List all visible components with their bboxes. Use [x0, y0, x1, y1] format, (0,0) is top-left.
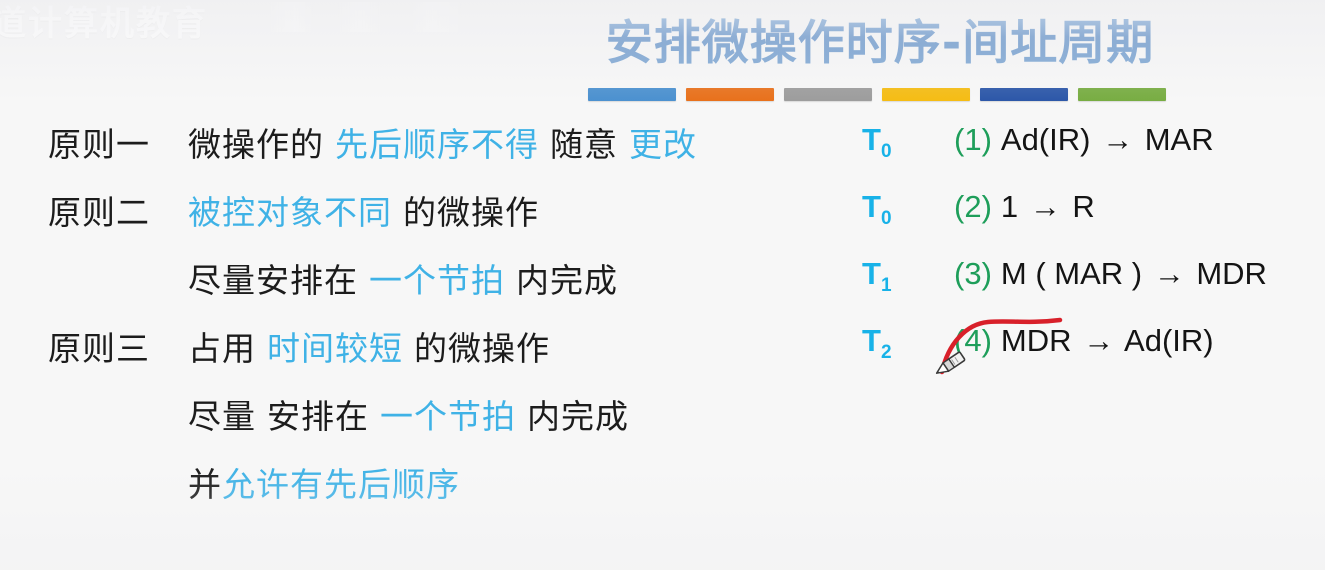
- principle-text: 被控对象不同的微操作: [188, 186, 539, 234]
- bar-yellow: [882, 88, 970, 101]
- micro-operation-row: T2(4)MDR → Ad(IR): [862, 323, 1267, 390]
- expression-destination: R: [1072, 189, 1094, 224]
- plain-phrase: 并: [188, 465, 222, 504]
- right-arrow-icon: →: [1099, 122, 1136, 157]
- plain-phrase: 随意: [550, 125, 618, 164]
- highlighted-phrase: 先后顺序不得: [335, 125, 539, 164]
- principle-label: 原则三: [48, 322, 188, 370]
- expression-destination: Ad(IR): [1124, 323, 1214, 358]
- bar-gray: [784, 88, 872, 101]
- highlighted-phrase: 更改: [629, 125, 697, 164]
- plain-phrase: 尽量安排在: [188, 261, 358, 300]
- plain-phrase: 内完成: [527, 397, 629, 436]
- timing-signal-subscript: 1: [881, 275, 892, 296]
- bar-blue: [588, 88, 676, 101]
- plain-phrase: 的微操作: [414, 329, 550, 368]
- principle-row: 原则三占用时间较短的微操作: [48, 322, 818, 390]
- timing-signal-label: T2: [862, 323, 954, 364]
- highlighted-phrase: 一个节拍: [380, 397, 516, 436]
- principle-text: 并允许有先后顺序: [188, 458, 460, 506]
- principle-row: 原则二被控对象不同的微操作: [48, 186, 818, 254]
- operation-number: (4): [954, 323, 992, 359]
- right-arrow-icon: →: [1080, 323, 1117, 358]
- principle-row: 并允许有先后顺序: [48, 458, 818, 526]
- slide-canvas: 道计算机教育 安排微操作时序-间址周期 原则一微操作的先后顺序不得随意更改原则二…: [0, 0, 1325, 570]
- bar-green: [1078, 88, 1166, 101]
- operation-expression: Ad(IR) → MAR: [1001, 122, 1214, 158]
- right-arrow-icon: →: [1151, 256, 1188, 291]
- operation-number: (3): [954, 256, 992, 292]
- principle-label: 原则一: [48, 118, 188, 166]
- expression-source: 1: [1001, 189, 1018, 224]
- operation-number: (1): [954, 122, 992, 158]
- timing-signal-letter: T: [862, 189, 881, 224]
- timing-signal-letter: T: [862, 256, 881, 291]
- principle-text: 占用时间较短的微操作: [188, 322, 550, 370]
- timing-signal-label: T0: [862, 122, 954, 163]
- plain-phrase: 内完成: [516, 261, 618, 300]
- principle-label: 原则二: [48, 186, 188, 234]
- timing-signal-label: T1: [862, 256, 954, 297]
- watermark-text: 道计算机教育: [0, 0, 208, 45]
- bar-orange: [686, 88, 774, 101]
- highlighted-phrase: 一个节拍: [369, 261, 505, 300]
- title-accent-bars: [588, 88, 1166, 101]
- highlighted-phrase: 允许有先后顺序: [222, 465, 460, 504]
- principle-row: 尽量安排在一个节拍内完成: [48, 390, 818, 458]
- plain-phrase: 的微操作: [403, 193, 539, 232]
- plain-phrase: 尽量: [188, 397, 256, 436]
- principle-text: 尽量安排在一个节拍内完成: [188, 254, 618, 302]
- page-title: 安排微操作时序-间址周期: [560, 4, 1200, 73]
- micro-operation-row: T0(2)1 → R: [862, 189, 1267, 256]
- timing-signal-subscript: 0: [881, 208, 892, 229]
- principle-row: 原则一微操作的先后顺序不得随意更改: [48, 118, 818, 186]
- operation-number: (2): [954, 189, 992, 225]
- plain-phrase: 安排在: [267, 397, 369, 436]
- principle-text: 尽量安排在一个节拍内完成: [188, 390, 629, 438]
- operation-expression: 1 → R: [1001, 189, 1095, 225]
- plain-phrase: 占用: [188, 329, 256, 368]
- right-arrow-icon: →: [1027, 189, 1064, 224]
- expression-destination: MDR: [1196, 256, 1267, 291]
- plain-phrase: 微操作的: [188, 125, 324, 164]
- principle-text: 微操作的先后顺序不得随意更改: [188, 118, 697, 166]
- expression-destination: MAR: [1145, 122, 1214, 157]
- principles-list: 原则一微操作的先后顺序不得随意更改原则二被控对象不同的微操作尽量安排在一个节拍内…: [48, 118, 818, 526]
- bar-dark-blue: [980, 88, 1068, 101]
- timing-signal-letter: T: [862, 323, 881, 358]
- micro-operation-row: T0(1)Ad(IR) → MAR: [862, 122, 1267, 189]
- watermark-ghost: [268, 2, 498, 32]
- micro-operations-list: T0(1)Ad(IR) → MART0(2)1 → RT1(3)M ( MAR …: [862, 122, 1267, 390]
- principle-row: 尽量安排在一个节拍内完成: [48, 254, 818, 322]
- operation-expression: MDR → Ad(IR): [1001, 323, 1214, 359]
- expression-source: M ( MAR ): [1001, 256, 1142, 291]
- timing-signal-label: T0: [862, 189, 954, 230]
- highlighted-phrase: 时间较短: [267, 329, 403, 368]
- expression-source: Ad(IR): [1001, 122, 1091, 157]
- micro-operation-row: T1(3)M ( MAR ) → MDR: [862, 256, 1267, 323]
- timing-signal-letter: T: [862, 122, 881, 157]
- timing-signal-subscript: 0: [881, 141, 892, 162]
- highlighted-phrase: 被控对象不同: [188, 193, 392, 232]
- expression-source: MDR: [1001, 323, 1072, 358]
- operation-expression: M ( MAR ) → MDR: [1001, 256, 1267, 292]
- timing-signal-subscript: 2: [881, 342, 892, 363]
